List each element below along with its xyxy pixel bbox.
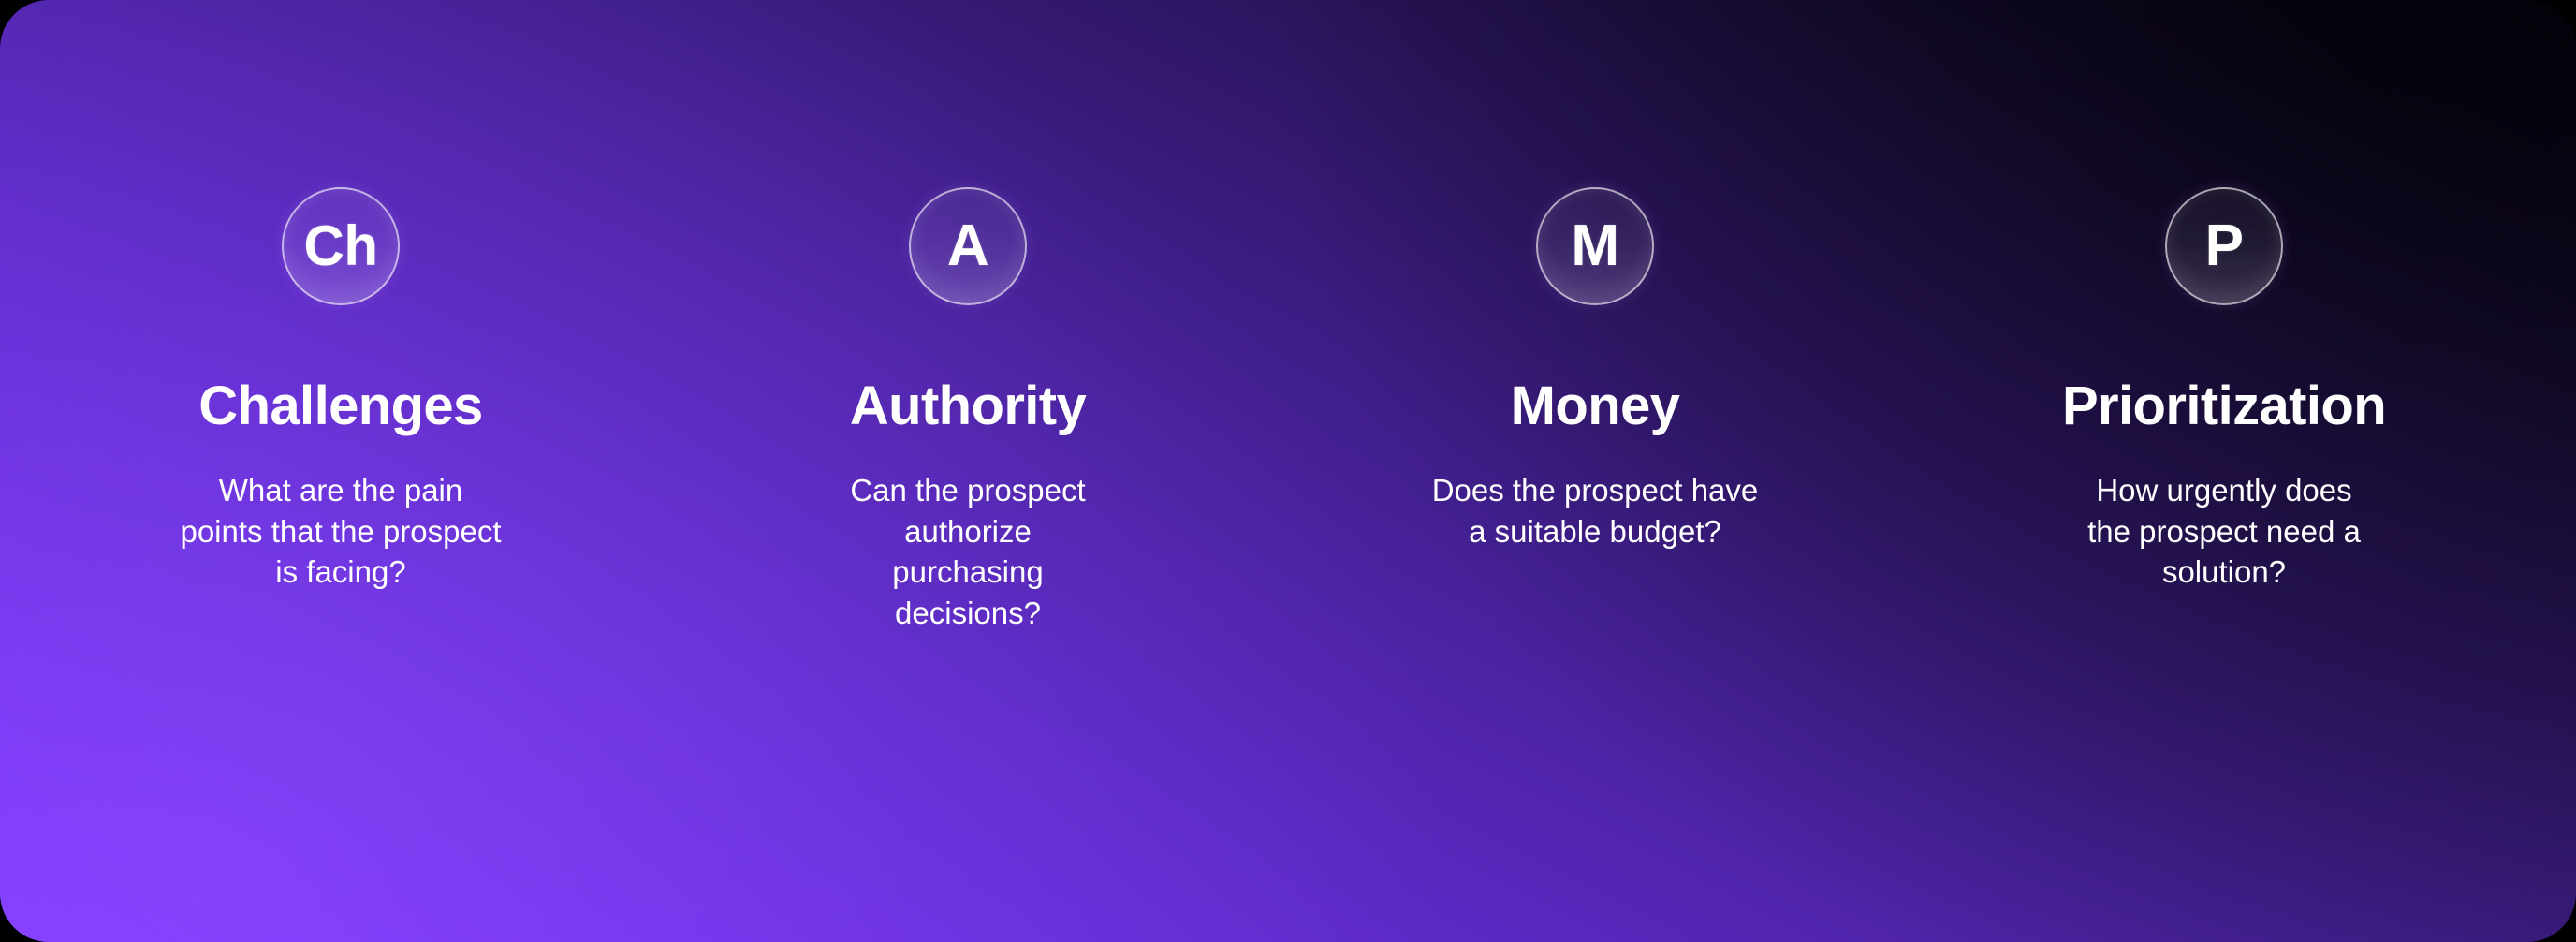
champ-column-money[interactable]: M Money Does the prospect have a suitabl… — [1282, 0, 1908, 552]
money-badge-letter: M — [1571, 217, 1618, 275]
money-badge-icon: M — [1536, 187, 1654, 305]
authority-description: Can the prospect authorize purchasing de… — [826, 470, 1111, 633]
challenges-description: What are the pain points that the prospe… — [180, 470, 503, 593]
champ-column-challenges[interactable]: Ch Challenges What are the pain points t… — [28, 0, 653, 593]
challenges-badge-icon: Ch — [282, 187, 400, 305]
prioritization-badge-letter: P — [2205, 217, 2244, 275]
challenges-title: Challenges — [198, 378, 482, 434]
authority-badge-icon: A — [909, 187, 1027, 305]
champ-framework-board: Ch Challenges What are the pain points t… — [0, 0, 2576, 942]
prioritization-description: How urgently does the prospect need a so… — [2074, 470, 2374, 593]
prioritization-badge-icon: P — [2165, 187, 2283, 305]
prioritization-title: Prioritization — [2062, 378, 2386, 434]
challenges-badge-letter: Ch — [304, 218, 378, 274]
money-title: Money — [1511, 378, 1680, 434]
authority-badge-letter: A — [947, 217, 988, 275]
champ-column-prioritization[interactable]: P Prioritization How urgently does the p… — [1911, 0, 2537, 593]
champ-column-authority[interactable]: A Authority Can the prospect authorize p… — [655, 0, 1281, 634]
money-description: Does the prospect have a suitable budget… — [1431, 470, 1759, 552]
champ-columns-row: Ch Challenges What are the pain points t… — [0, 0, 2576, 942]
authority-title: Authority — [850, 378, 1086, 434]
